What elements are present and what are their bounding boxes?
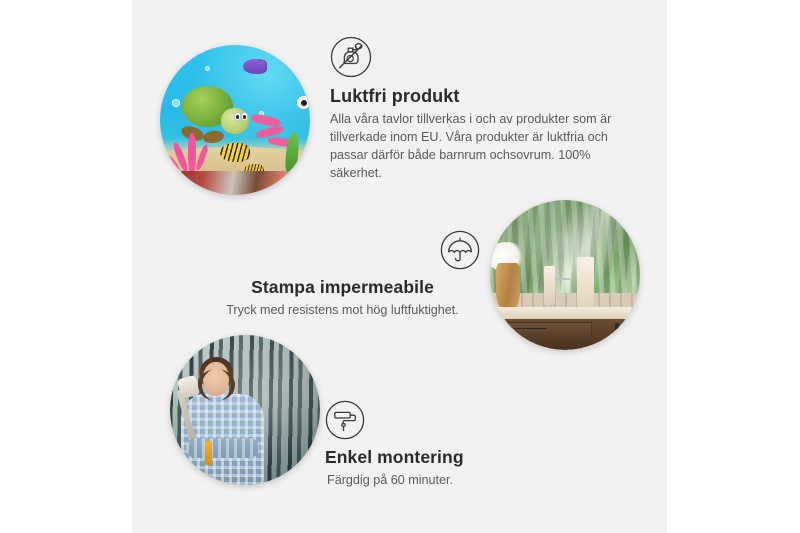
feature-title: Enkel montering bbox=[325, 447, 575, 468]
feature-body: Färgdig på 60 minuter. bbox=[327, 472, 575, 490]
vanity-drawer bbox=[499, 322, 592, 337]
feature-waterproof: Stampa impermeabile Tryck med resistens … bbox=[205, 230, 480, 320]
product-photo-bathroom[interactable] bbox=[490, 200, 640, 350]
coral-branch bbox=[188, 133, 196, 174]
coral-branch bbox=[194, 144, 209, 171]
screenshot-root: Luktfri produkt Alla våra tavlor tillver… bbox=[0, 0, 800, 533]
coral bbox=[169, 123, 217, 174]
crossed-arms bbox=[186, 438, 259, 458]
paint-roller-icon bbox=[325, 400, 575, 440]
octopus-illustration bbox=[250, 87, 310, 156]
umbrella-icon bbox=[440, 230, 480, 270]
octopus-head bbox=[265, 87, 310, 138]
product-photo-forest[interactable] bbox=[170, 335, 320, 485]
feature-title: Stampa impermeabile bbox=[205, 277, 480, 298]
wooden-vanity bbox=[490, 319, 640, 351]
octopus-eye bbox=[297, 96, 310, 109]
turtle-head bbox=[221, 108, 249, 135]
cabinet-handle bbox=[615, 323, 620, 339]
hair-sides bbox=[198, 369, 235, 401]
feature-title: Luktfri produkt bbox=[330, 86, 625, 107]
fish-striped bbox=[220, 143, 250, 163]
turtle-eye bbox=[241, 112, 248, 121]
product-photo-ocean[interactable] bbox=[160, 45, 310, 195]
photo-ocean-inner bbox=[160, 45, 310, 195]
fish-purple bbox=[243, 59, 267, 74]
feature-odour-free: Luktfri produkt Alla våra tavlor tillver… bbox=[330, 36, 625, 183]
feature-body: Alla våra tavlor tillverkas i och av pro… bbox=[330, 111, 625, 183]
ocean-foreground-strip bbox=[181, 171, 310, 195]
vase bbox=[496, 263, 520, 311]
feature-easy-mounting: Enkel montering Färgdig på 60 minuter. bbox=[325, 400, 575, 490]
feature-body: Tryck med resistens mot hög luftfuktighe… bbox=[205, 302, 480, 320]
photo-bathroom-inner bbox=[490, 200, 640, 350]
woman-with-roller bbox=[179, 362, 266, 485]
drawer-handle bbox=[514, 328, 547, 329]
paint-brush bbox=[205, 441, 212, 466]
no-fragrance-icon bbox=[330, 36, 625, 78]
towel-roll bbox=[577, 257, 594, 307]
bubble-icon bbox=[172, 99, 180, 107]
soap-bottle bbox=[544, 266, 555, 305]
photo-forest-inner bbox=[170, 335, 320, 485]
